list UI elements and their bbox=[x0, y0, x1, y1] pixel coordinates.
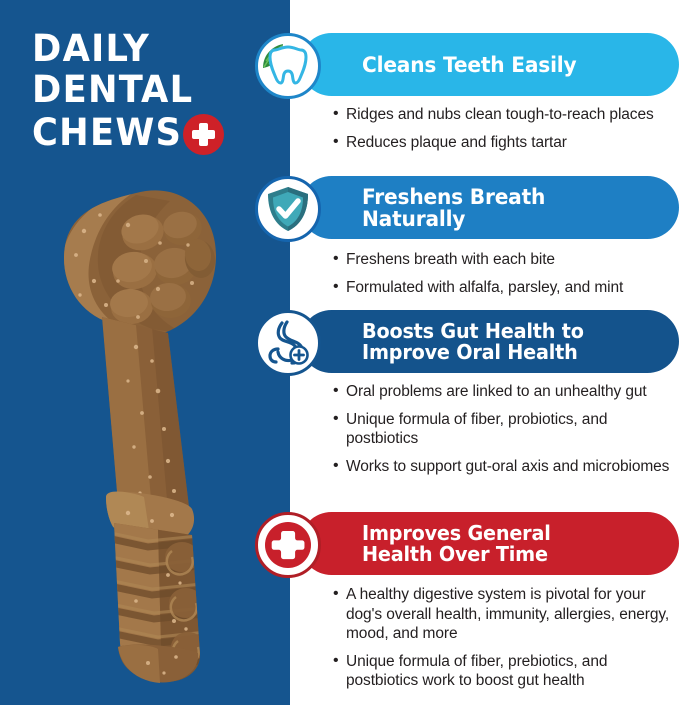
feature-heading-2: Freshens Breath Naturally bbox=[362, 186, 649, 230]
features-list: Cleans Teeth Easily Ridges and nubs clea… bbox=[255, 0, 679, 705]
list-item: Ridges and nubs clean tough-to-reach pla… bbox=[333, 105, 673, 125]
feature-header-pill-3: Boosts Gut Health to Improve Oral Health bbox=[300, 310, 679, 373]
feature-bullets-4: A healthy digestive system is pivotal fo… bbox=[333, 585, 673, 699]
dog-dental-chew-illustration bbox=[40, 185, 270, 685]
tooth-mint-leaf-icon bbox=[255, 33, 321, 99]
feature-bullets-2: Freshens breath with each bite Formulate… bbox=[333, 250, 673, 305]
list-item: A healthy digestive system is pivotal fo… bbox=[333, 585, 673, 644]
list-item: Unique formula of fiber, prebiotics, and… bbox=[333, 652, 673, 691]
list-item: Unique formula of fiber, probiotics, and… bbox=[333, 410, 673, 449]
feature-header-pill-4: Improves General Health Over Time bbox=[300, 512, 679, 575]
title-line-2: DENTAL bbox=[32, 69, 276, 110]
title-line-3: CHEWS bbox=[32, 112, 182, 153]
list-item: Formulated with alfalfa, parsley, and mi… bbox=[333, 278, 673, 298]
list-item: Oral problems are linked to an unhealthy… bbox=[333, 382, 673, 402]
feature-bullets-1: Ridges and nubs clean tough-to-reach pla… bbox=[333, 105, 673, 160]
list-item: Reduces plaque and fights tartar bbox=[333, 133, 673, 153]
page-title: DAILY DENTAL CHEWS bbox=[32, 28, 262, 155]
list-item: Works to support gut-oral axis and micro… bbox=[333, 457, 673, 477]
feature-heading-3: Boosts Gut Health to Improve Oral Health bbox=[362, 321, 584, 363]
list-item: Freshens breath with each bite bbox=[333, 250, 673, 270]
feature-heading-1: Cleans Teeth Easily bbox=[362, 54, 576, 76]
medical-cross-icon bbox=[183, 114, 224, 155]
product-feature-poster: DAILY DENTAL CHEWS bbox=[0, 0, 679, 705]
feature-header-pill-1: Cleans Teeth Easily bbox=[300, 33, 679, 96]
feature-header-pill-2: Freshens Breath Naturally bbox=[300, 176, 679, 239]
shield-check-icon bbox=[255, 176, 321, 242]
medical-cross-icon bbox=[255, 512, 321, 578]
title-line-1: DAILY bbox=[32, 28, 276, 69]
feature-heading-4: Improves General Health Over Time bbox=[362, 523, 551, 565]
feature-bullets-3: Oral problems are linked to an unhealthy… bbox=[333, 382, 673, 484]
stomach-plus-icon bbox=[255, 310, 321, 376]
